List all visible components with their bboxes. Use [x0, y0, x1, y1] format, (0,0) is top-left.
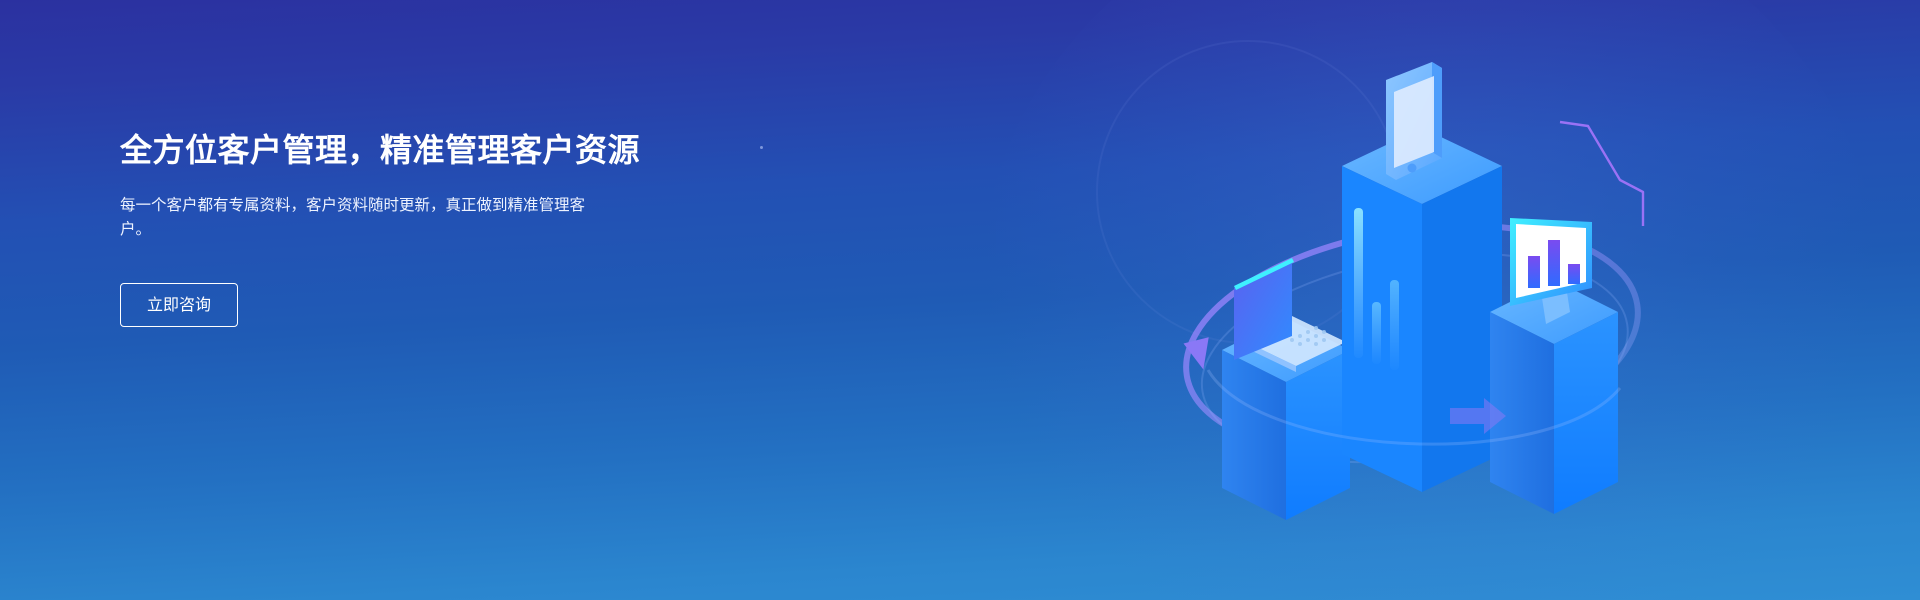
banner-copy: 全方位客户管理，精准管理客户资源 每一个客户都有专属资料，客户资料随时更新，真正… [120, 130, 740, 327]
banner-subcopy: 每一个客户都有专属资料，客户资料随时更新，真正做到精准管理客户。 [120, 194, 598, 244]
page-title: 全方位客户管理，精准管理客户资源 [120, 130, 740, 172]
connector-polyline [1560, 122, 1643, 226]
center-pedestal [1342, 128, 1502, 492]
hero-illustration [1150, 40, 1670, 600]
hero-banner: 全方位客户管理，精准管理客户资源 每一个客户都有专属资料，客户资料随时更新，真正… [0, 0, 1920, 600]
background-spark-dot [760, 146, 763, 149]
consult-now-button[interactable]: 立即咨询 [120, 283, 238, 327]
